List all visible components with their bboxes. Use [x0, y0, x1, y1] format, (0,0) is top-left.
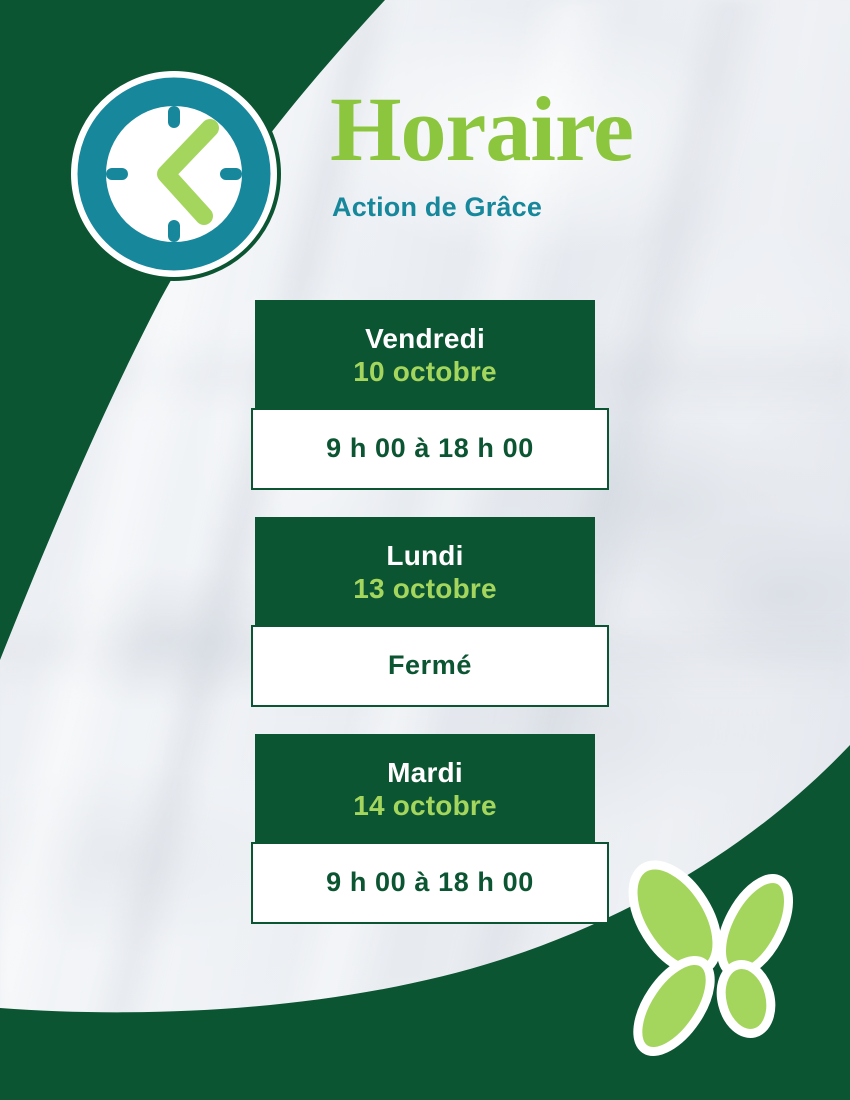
schedule-card-header: Mardi 14 octobre [255, 734, 595, 842]
schedule-card-hours-panel: 9 h 00 à 18 h 00 [251, 842, 609, 924]
schedule-card-date: 10 octobre [265, 355, 585, 388]
schedule-card-day: Mardi [265, 756, 585, 789]
poster-header: Horaire Action de Grâce [330, 84, 800, 223]
schedule-card-hours-panel: Fermé [251, 625, 609, 707]
schedule-card-hours-panel: 9 h 00 à 18 h 00 [251, 408, 609, 490]
clock-icon [66, 66, 282, 282]
schedule-card-header: Vendredi 10 octobre [255, 300, 595, 408]
schedule-card-date: 13 octobre [265, 572, 585, 605]
page-title: Horaire [330, 84, 800, 174]
schedule-list: Vendredi 10 octobre 9 h 00 à 18 h 00 Lun… [0, 300, 850, 951]
schedule-card-hours: Fermé [388, 650, 472, 680]
schedule-card-hours: 9 h 00 à 18 h 00 [326, 867, 534, 897]
schedule-card-day: Lundi [265, 539, 585, 572]
schedule-card: Lundi 13 octobre Fermé [255, 517, 595, 707]
schedule-poster: Horaire Action de Grâce Vendredi 10 octo… [0, 0, 850, 1100]
schedule-card-header: Lundi 13 octobre [255, 517, 595, 625]
butterfly-logo-icon [618, 858, 808, 1058]
poster-subtitle: Action de Grâce [332, 192, 800, 223]
schedule-card: Mardi 14 octobre 9 h 00 à 18 h 00 [255, 734, 595, 924]
schedule-card-date: 14 octobre [265, 789, 585, 822]
schedule-card: Vendredi 10 octobre 9 h 00 à 18 h 00 [255, 300, 595, 490]
schedule-card-day: Vendredi [265, 322, 585, 355]
schedule-card-hours: 9 h 00 à 18 h 00 [326, 433, 534, 463]
